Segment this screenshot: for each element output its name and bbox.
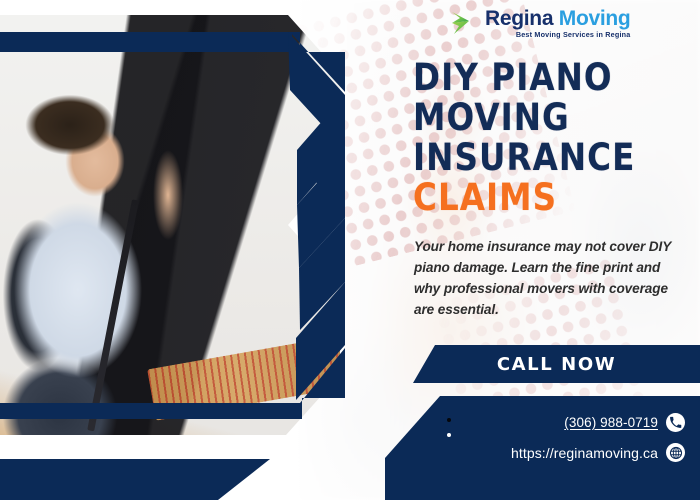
logo-word-regina: Regina — [485, 7, 553, 30]
call-now-button[interactable]: CALL NOW — [413, 345, 700, 383]
logo[interactable]: Regina Moving Best Moving Services in Re… — [449, 8, 630, 38]
logo-wordmark: Regina Moving — [485, 8, 630, 29]
headline: DIY PIANO MOVING INSURANCE CLAIMS — [413, 58, 700, 218]
logo-tagline: Best Moving Services in Regina — [485, 31, 630, 38]
green-arrow-chevron-icon — [449, 8, 479, 38]
call-now-label: CALL NOW — [497, 354, 616, 375]
headline-line-1: DIY PIANO — [413, 58, 668, 98]
subcopy-text: Your home insurance may not cover DIY pi… — [414, 236, 686, 320]
headline-line-2: MOVING — [413, 98, 668, 138]
headline-line-4: CLAIMS — [413, 178, 668, 218]
logo-text: Regina Moving Best Moving Services in Re… — [485, 8, 630, 38]
bullet-marks — [447, 418, 451, 448]
phone-handset-icon — [666, 413, 685, 432]
logo-word-moving: Moving — [559, 7, 631, 30]
headline-line-3: INSURANCE — [413, 138, 668, 178]
bullet-dot-light — [447, 433, 451, 437]
bullet-dot-dark — [447, 418, 451, 422]
globe-icon — [666, 443, 685, 462]
promo-banner: Regina Moving Best Moving Services in Re… — [0, 0, 700, 500]
phone-contact[interactable]: (306) 988-0719 — [564, 413, 685, 432]
footer-bar: (306) 988-0719 https://reginamoving.ca — [385, 396, 700, 500]
website-contact[interactable]: https://reginamoving.ca — [511, 443, 685, 462]
phone-number: (306) 988-0719 — [564, 415, 658, 430]
website-url: https://reginamoving.ca — [511, 445, 658, 461]
